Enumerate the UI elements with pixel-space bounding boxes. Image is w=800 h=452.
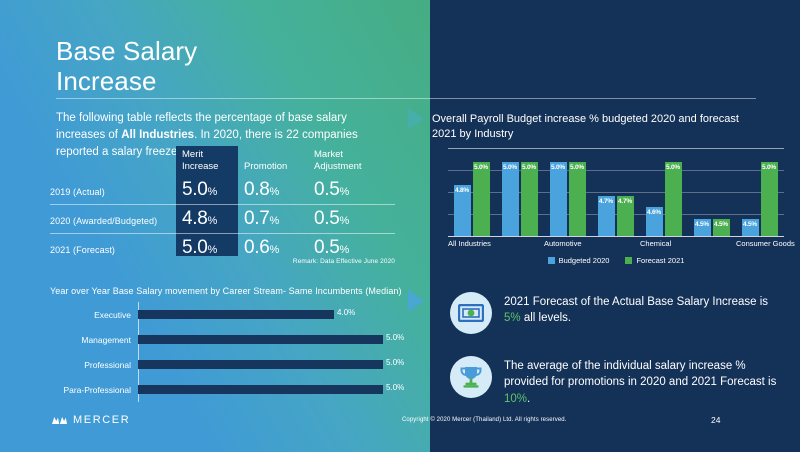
row-market-value: 0.5% <box>308 205 395 234</box>
payroll-chart-plot: 4.8%5.0%5.0%5.0%5.0%5.0%4.7%4.7%4.6%5.0%… <box>448 148 784 236</box>
yoy-row: Para-Professional5.0% <box>50 377 410 402</box>
yoy-track: 5.0% <box>138 377 410 402</box>
callout-forecast-text: 2021 Forecast of the Actual Base Salary … <box>504 292 780 327</box>
table-header-merit: Merit Increase <box>176 146 238 176</box>
chart-bar-label: 5.0% <box>474 164 488 171</box>
yoy-value-label: 5.0% <box>386 358 404 367</box>
table-header-row: Merit Increase Promotion Market Adjustme… <box>50 146 395 176</box>
page-title: Base Salary Increase <box>56 36 386 96</box>
chart-bar <box>473 162 490 236</box>
row-merit-value: 4.8% <box>176 205 238 234</box>
callout-1-highlight: 5% <box>504 312 521 324</box>
callout-2-text-before: The average of the individual salary inc… <box>504 360 776 388</box>
row-market-value: 0.5% <box>308 176 395 205</box>
mercer-logo: MERCER <box>52 414 130 426</box>
yoy-category-label: Para-Professional <box>50 385 138 395</box>
payroll-chart-title: Overall Payroll Budget increase % budget… <box>432 112 752 142</box>
table-header-market: Market Adjustment <box>308 146 395 176</box>
callout-2-text-after: . <box>527 393 530 405</box>
table-remark: Remark: Data Effective June 2020 <box>50 258 395 265</box>
legend-label: Budgeted 2020 <box>559 256 610 265</box>
slide-canvas: Base Salary Increase The following table… <box>0 0 800 452</box>
merit-header-line2: Increase <box>182 161 238 172</box>
chart-bar-label: 4.8% <box>455 187 469 194</box>
chart-bar-label: 5.0% <box>666 164 680 171</box>
row-merit-value: 5.0% <box>176 176 238 205</box>
callout-1-text-after: all levels. <box>521 312 572 324</box>
chart-bar <box>550 162 567 236</box>
chart-bar-label: 5.0% <box>570 164 584 171</box>
yoy-row: Management5.0% <box>50 327 410 352</box>
yoy-row: Executive4.0% <box>50 302 410 327</box>
chart-x-label: All Industries <box>448 239 491 248</box>
page-title-line1: Base Salary <box>56 36 386 66</box>
chart-bar-label: 4.5% <box>695 221 709 228</box>
callout-promotion-text: The average of the individual salary inc… <box>504 356 780 407</box>
intro-text-bold: All Industries <box>121 129 194 141</box>
salary-table: Merit Increase Promotion Market Adjustme… <box>50 146 395 262</box>
chart-bar <box>761 162 778 236</box>
row-promotion-value: 0.7% <box>238 205 308 234</box>
chart-bar-label: 4.5% <box>743 221 757 228</box>
yoy-value-label: 4.0% <box>337 308 355 317</box>
chart-bar-label: 4.7% <box>599 198 613 205</box>
arrow-notch-chart <box>408 108 424 130</box>
yoy-category-label: Executive <box>50 310 138 320</box>
yoy-chart: Executive4.0%Management5.0%Professional5… <box>50 302 410 402</box>
legend-item[interactable]: Budgeted 2020 <box>548 256 610 265</box>
yoy-value-label: 5.0% <box>386 333 404 342</box>
table-row: 2019 (Actual) 5.0% 0.8% 0.5% <box>50 176 395 205</box>
yoy-row: Professional5.0% <box>50 352 410 377</box>
callout-1-text-before: 2021 Forecast of the Actual Base Salary … <box>504 296 768 308</box>
merit-header-line1: Merit <box>182 149 238 160</box>
callout-forecast: 2021 Forecast of the Actual Base Salary … <box>450 292 780 334</box>
payroll-chart-legend: Budgeted 2020Forecast 2021 <box>448 256 784 265</box>
mercer-wordmark: MERCER <box>73 414 130 426</box>
yoy-bar <box>138 335 383 344</box>
row-promotion-value: 0.8% <box>238 176 308 205</box>
chart-bar <box>569 162 586 236</box>
yoy-track: 5.0% <box>138 327 410 352</box>
arrow-notch-callouts <box>408 290 424 312</box>
yoy-bar <box>138 310 334 319</box>
copyright-text: Copyright © 2020 Mercer (Thailand) Ltd. … <box>402 417 567 423</box>
payroll-chart-axis <box>448 236 784 237</box>
yoy-bar <box>138 360 383 369</box>
title-divider <box>56 98 756 99</box>
chart-bar <box>521 162 538 236</box>
chart-bar <box>502 162 519 236</box>
row-label: 2020 (Awarded/Budgeted) <box>50 205 176 234</box>
page-number: 24 <box>711 415 720 425</box>
chart-bar <box>665 162 682 236</box>
yoy-track: 4.0% <box>138 302 410 327</box>
table-row: 2020 (Awarded/Budgeted) 4.8% 0.7% 0.5% <box>50 205 395 234</box>
market-header-line2: Adjustment <box>314 161 395 172</box>
salary-table-wrapper: Merit Increase Promotion Market Adjustme… <box>50 146 395 262</box>
table-header-blank <box>50 146 176 176</box>
chart-bar-label: 5.0% <box>551 164 565 171</box>
trophy-icon <box>450 356 492 398</box>
yoy-category-label: Professional <box>50 360 138 370</box>
page-title-line2: Increase <box>56 66 386 96</box>
yoy-bar <box>138 385 383 394</box>
yoy-category-label: Management <box>50 335 138 345</box>
mercer-mark-icon <box>52 415 67 425</box>
legend-swatch <box>625 257 632 264</box>
yoy-value-label: 5.0% <box>386 383 404 392</box>
legend-swatch <box>548 257 555 264</box>
chart-x-label: Consumer Goods <box>736 239 795 248</box>
row-label: 2019 (Actual) <box>50 176 176 205</box>
chart-bar-label: 4.6% <box>647 209 661 216</box>
chart-x-label: Chemical <box>640 239 671 248</box>
payroll-chart-bars: 4.8%5.0%5.0%5.0%5.0%5.0%4.7%4.7%4.6%5.0%… <box>448 148 784 236</box>
table-header-promotion: Promotion <box>238 146 308 176</box>
chart-bar-label: 5.0% <box>503 164 517 171</box>
chart-bar-label: 4.7% <box>618 198 632 205</box>
chart-x-label: Automotive <box>544 239 582 248</box>
yoy-chart-title: Year over Year Base Salary movement by C… <box>50 286 410 296</box>
yoy-track: 5.0% <box>138 352 410 377</box>
callout-2-highlight: 10% <box>504 393 527 405</box>
callout-promotion: The average of the individual salary inc… <box>450 356 780 407</box>
legend-label: Forecast 2021 <box>636 256 684 265</box>
legend-item[interactable]: Forecast 2021 <box>625 256 684 265</box>
chart-bar-label: 5.0% <box>522 164 536 171</box>
banknote-icon <box>450 292 492 334</box>
chart-bar-label: 4.5% <box>714 221 728 228</box>
market-header-line1: Market <box>314 149 395 160</box>
chart-bar-label: 5.0% <box>762 164 776 171</box>
